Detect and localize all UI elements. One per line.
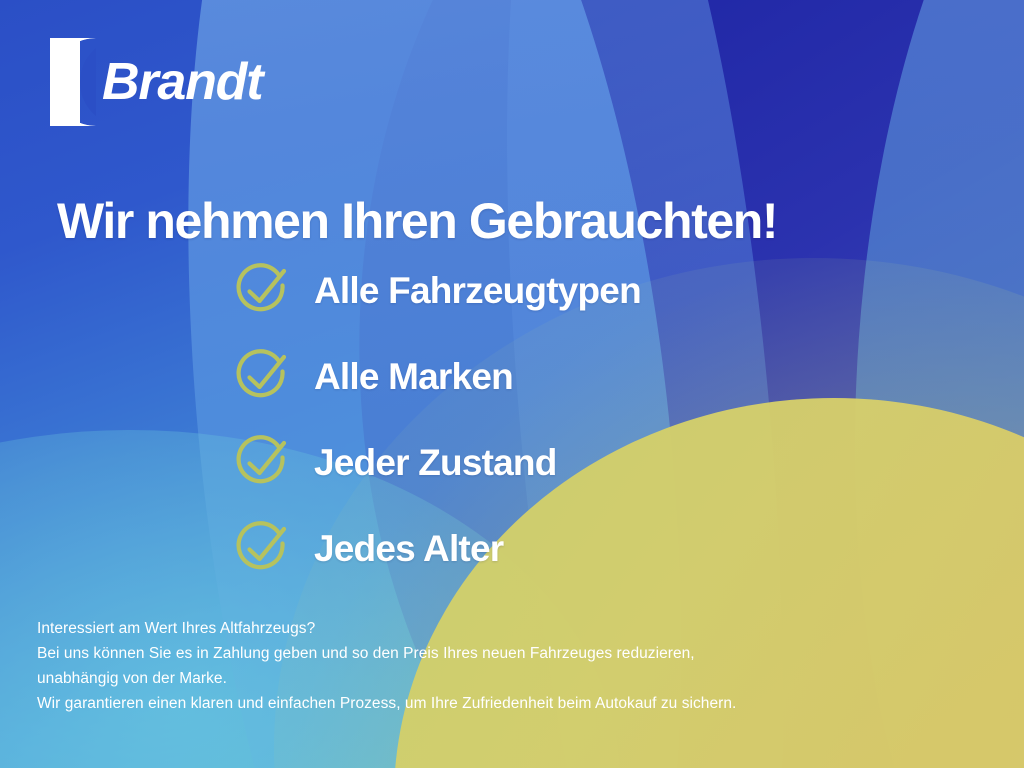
list-item-label: Alle Marken — [314, 358, 513, 395]
circle-check-icon — [232, 432, 292, 492]
list-item-label: Jeder Zustand — [314, 444, 557, 481]
description-text: Interessiert am Wert Ihres Altfahrzeugs?… — [37, 616, 736, 716]
circle-check-icon — [232, 346, 292, 406]
promo-banner: Brandt Wir nehmen Ihren Gebrauchten! All… — [0, 0, 1024, 768]
bracket-logo-mark-icon — [50, 38, 96, 126]
list-item-label: Alle Fahrzeugtypen — [314, 272, 641, 309]
description-line: Bei uns können Sie es in Zahlung geben u… — [37, 641, 736, 666]
description-line: Wir garantieren einen klaren und einfach… — [37, 691, 736, 716]
circle-check-icon — [232, 518, 292, 578]
list-item: Jeder Zustand — [232, 430, 641, 494]
description-line: unabhängig von der Marke. — [37, 666, 736, 691]
banner-content: Brandt Wir nehmen Ihren Gebrauchten! All… — [0, 0, 1024, 768]
list-item: Alle Marken — [232, 344, 641, 408]
list-item: Jedes Alter — [232, 516, 641, 580]
brand-logo: Brandt — [50, 38, 262, 126]
page-title: Wir nehmen Ihren Gebrauchten! — [57, 194, 777, 249]
list-item-label: Jedes Alter — [314, 530, 503, 567]
brand-name: Brandt — [102, 56, 262, 108]
list-item: Alle Fahrzeugtypen — [232, 258, 641, 322]
circle-check-icon — [232, 260, 292, 320]
description-line: Interessiert am Wert Ihres Altfahrzeugs? — [37, 616, 736, 641]
benefits-list: Alle Fahrzeugtypen Alle Marken Jeder Zus… — [232, 258, 641, 580]
